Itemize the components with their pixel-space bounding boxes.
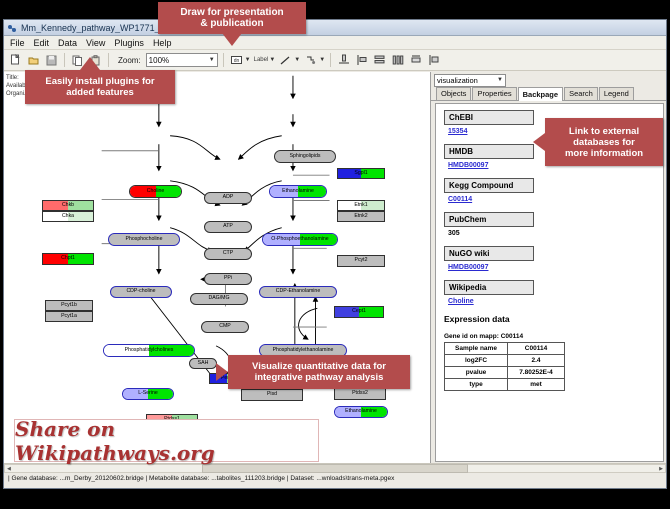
- db-link-wikipedia[interactable]: Choline: [448, 298, 655, 305]
- gene-node-pcyt2[interactable]: Pcyt2: [337, 255, 385, 267]
- metabolite-node-cdp_choline[interactable]: CDP-choline: [110, 286, 172, 298]
- node-label: Etnk2: [354, 214, 367, 219]
- table-cell-value: 7.80252E-4: [508, 367, 565, 379]
- gene-node-cept1[interactable]: Cept1: [334, 306, 384, 318]
- node-label: Phosphatidylcholines: [125, 348, 174, 353]
- zoom-value: 100%: [149, 56, 169, 65]
- node-label: ATP: [223, 224, 233, 229]
- node-label: Phosphocholine: [126, 237, 163, 242]
- visualization-row: visualization ▼: [431, 72, 666, 88]
- node-label: PPi: [224, 276, 232, 281]
- save-icon[interactable]: [44, 53, 59, 68]
- node-label: Pcyt1a: [61, 314, 77, 319]
- toolbar-separator: [330, 53, 331, 67]
- db-value-pubchem: 305: [448, 230, 655, 237]
- tab-properties[interactable]: Properties: [472, 87, 516, 100]
- align-left-icon[interactable]: [354, 53, 369, 68]
- menu-edit[interactable]: Edit: [34, 38, 50, 48]
- distribute-icon[interactable]: [390, 53, 405, 68]
- node-label: Choline: [147, 189, 165, 194]
- node-label: Pcyt2: [355, 258, 368, 263]
- new-file-icon[interactable]: [8, 53, 23, 68]
- gene-node-pisd[interactable]: Pisd: [241, 389, 303, 401]
- scroll-left-icon[interactable]: ◀: [5, 466, 13, 472]
- chevron-down-icon[interactable]: ▼: [245, 57, 251, 63]
- menu-help[interactable]: Help: [153, 38, 172, 48]
- gene-node-sgpl1[interactable]: Sgpl1: [337, 168, 385, 179]
- datanode-icon[interactable]: dn: [229, 53, 244, 68]
- metabolite-node-ctp[interactable]: CTP: [204, 248, 252, 260]
- gene-node-chpt1[interactable]: Chpt1: [42, 253, 94, 265]
- metabolite-node-l_serine_left[interactable]: L-Serine: [122, 388, 174, 400]
- callout-draw-presentation: Draw for presentation & publication: [158, 2, 306, 34]
- node-label: Ethanolamine: [345, 409, 377, 414]
- horizontal-scrollbar[interactable]: ◀ ▶: [4, 464, 666, 473]
- node-label: CMP: [219, 324, 231, 329]
- menu-plugins[interactable]: Plugins: [114, 38, 144, 48]
- toolbar-separator: [108, 53, 109, 67]
- node-label: O-Phosphoethanolamine: [271, 237, 328, 242]
- node-label: CTP: [223, 251, 233, 256]
- gene-node-chkb[interactable]: Chkb: [42, 200, 94, 211]
- menu-file[interactable]: File: [10, 38, 25, 48]
- node-label: Pisd: [267, 392, 277, 397]
- side-tabs: Objects Properties Backpage Search Legen…: [431, 88, 666, 101]
- menu-view[interactable]: View: [86, 38, 105, 48]
- node-label: DAG/MG: [208, 296, 229, 301]
- chevron-down-icon: ▼: [497, 77, 503, 83]
- order-icon[interactable]: [426, 53, 441, 68]
- scroll-right-icon[interactable]: ▶: [657, 466, 665, 472]
- callout-arrow-right-visualize: [216, 363, 228, 381]
- tab-objects[interactable]: Objects: [436, 87, 471, 100]
- chevron-down-icon[interactable]: ▼: [319, 57, 325, 63]
- metabolite-node-phosphatidylcholines[interactable]: Phosphatidylcholines: [103, 344, 195, 357]
- db-header-nugo-wiki: NuGO wiki: [444, 246, 534, 261]
- node-label: Ptdss2: [352, 391, 368, 396]
- metabolite-node-o_phosphoethanolamine[interactable]: O-Phosphoethanolamine: [262, 233, 338, 246]
- pathway-canvas[interactable]: Title: Availab... Organi...: [4, 72, 431, 464]
- status-text: | Gene database: ...m_Derby_20120602.bri…: [4, 473, 666, 482]
- menu-data[interactable]: Data: [58, 38, 77, 48]
- node-label: L-Serine: [138, 391, 158, 396]
- gene-node-ptdss2[interactable]: Ptdss2: [334, 388, 386, 400]
- toolbar: Zoom: 100% ▼ dn ▼ Label ▼ ▼: [4, 50, 666, 71]
- chevron-down-icon[interactable]: ▼: [294, 57, 300, 63]
- label-tool[interactable]: Label ▼: [254, 57, 276, 63]
- node-label: Phosphatidylethanolamine: [273, 348, 334, 353]
- db-header-chebi: ChEBI: [444, 110, 534, 125]
- gene-node-pcyt1b[interactable]: Pcyt1b: [45, 300, 93, 311]
- app-icon: [7, 23, 17, 33]
- label-icon: Label: [254, 57, 269, 63]
- db-header-pubchem: PubChem: [444, 212, 534, 227]
- node-label: Cept1: [352, 309, 366, 314]
- expression-data-table: Sample nameC00114log2FC2.4pvalue7.80252E…: [444, 342, 565, 391]
- table-cell-value: 2.4: [508, 355, 565, 367]
- gene-id-line: Gene id on mapp: C00114: [444, 333, 655, 340]
- anchor-icon[interactable]: [303, 53, 318, 68]
- callout-share-wikipathways: Share on Wikipathways.org: [14, 419, 319, 462]
- metabolite-node-cdp_ethanolamine[interactable]: CDP-Ethanolamine: [259, 286, 337, 298]
- tab-search[interactable]: Search: [564, 87, 598, 100]
- gene-node-etnk1[interactable]: Etnk1: [337, 200, 385, 211]
- table-cell-key: Sample name: [445, 343, 508, 355]
- db-header-hmdb: HMDB: [444, 144, 534, 159]
- node-label: CDP-Ethanolamine: [276, 289, 320, 294]
- node-label: Sphingolipids: [290, 154, 321, 159]
- metabolite-node-atp[interactable]: ATP: [204, 221, 252, 233]
- node-label: Pcyt1b: [61, 303, 77, 308]
- toolbar-separator: [223, 53, 224, 67]
- stack-icon[interactable]: [372, 53, 387, 68]
- gene-node-etnk2[interactable]: Etnk2: [337, 211, 385, 222]
- callout-visualize-data: Visualize quantitative data for integrat…: [228, 355, 410, 389]
- callout-install-plugins: Easily install plugins for added feature…: [25, 70, 175, 104]
- table-row: log2FC2.4: [445, 355, 565, 367]
- visualization-combobox[interactable]: visualization ▼: [434, 74, 506, 87]
- group-icon[interactable]: [408, 53, 423, 68]
- table-cell-key: log2FC: [445, 355, 508, 367]
- node-label: Chka: [62, 214, 74, 219]
- metabolite-node-sphingolipids[interactable]: Sphingolipids: [274, 150, 336, 163]
- scroll-thumb[interactable]: [202, 464, 468, 473]
- node-label: Chpt1: [61, 256, 75, 261]
- db-header-wikipedia: Wikipedia: [444, 280, 534, 295]
- tab-legend[interactable]: Legend: [599, 87, 634, 100]
- datanode-tool[interactable]: dn ▼: [229, 53, 251, 68]
- table-row: typemet: [445, 379, 565, 391]
- gene-node-pcyt1a[interactable]: Pcyt1a: [45, 311, 93, 322]
- svg-text:dn: dn: [233, 58, 239, 64]
- metabolite-node-adp[interactable]: ADP: [204, 192, 252, 204]
- metabolite-node-sah[interactable]: SAH: [189, 358, 217, 369]
- callout-arrow-up-plugins: [80, 57, 100, 70]
- gene-node-chka[interactable]: Chka: [42, 211, 94, 222]
- node-label: CDP-choline: [126, 289, 155, 294]
- line-icon[interactable]: [278, 53, 293, 68]
- callout-arrow-left-links: [533, 133, 545, 151]
- zoom-combobox[interactable]: 100% ▼: [146, 53, 218, 67]
- node-label: ADP: [223, 195, 234, 200]
- screenshot-root: Mm_Kennedy_pathway_WP1771_45176.gpml Fil…: [0, 0, 670, 509]
- visualization-value: visualization: [437, 76, 478, 85]
- node-label: SAH: [198, 361, 209, 366]
- align-bottom-icon[interactable]: [336, 53, 351, 68]
- metabolite-node-choline_top[interactable]: Choline: [129, 185, 182, 198]
- chevron-down-icon[interactable]: ▼: [269, 57, 275, 63]
- share-text: Share on Wikipathways.org: [15, 417, 318, 465]
- callout-external-links: Link to external databases for more info…: [545, 118, 663, 166]
- db-link-nugo-wiki[interactable]: HMDB00097: [448, 264, 655, 271]
- table-row: Sample nameC00114: [445, 343, 565, 355]
- table-cell-value: met: [508, 379, 565, 391]
- table-cell-key: type: [445, 379, 508, 391]
- anchor-tool[interactable]: ▼: [303, 53, 325, 68]
- open-folder-icon[interactable]: [26, 53, 41, 68]
- table-cell-value: C00114: [508, 343, 565, 355]
- db-link-kegg-compound[interactable]: C00114: [448, 196, 655, 203]
- node-label: Chkb: [62, 203, 74, 208]
- zoom-label: Zoom:: [118, 56, 141, 65]
- window-titlebar: Mm_Kennedy_pathway_WP1771_45176.gpml: [4, 20, 666, 36]
- metabolite-node-ethanolamine_bottom[interactable]: Ethanolamine: [334, 406, 388, 418]
- line-tool[interactable]: ▼: [278, 53, 300, 68]
- node-label: Sgpl1: [354, 171, 367, 176]
- metabolite-node-ppi[interactable]: PPi: [204, 273, 252, 285]
- expression-data-heading: Expression data: [444, 314, 655, 324]
- metabolite-node-ethanolamine[interactable]: Ethanolamine: [269, 185, 327, 198]
- toolbar-separator: [64, 53, 65, 67]
- metabolite-node-phosphocholine[interactable]: Phosphocholine: [108, 233, 180, 246]
- callout-arrow-down-top: [222, 33, 242, 46]
- metabolite-node-dag_mg[interactable]: DAG/MG: [190, 293, 248, 305]
- table-cell-key: pvalue: [445, 367, 508, 379]
- table-row: pvalue7.80252E-4: [445, 367, 565, 379]
- statusbar: ◀ ▶ | Gene database: ...m_Derby_20120602…: [4, 463, 666, 488]
- node-label: Ethanolamine: [282, 189, 314, 194]
- tab-backpage[interactable]: Backpage: [518, 87, 563, 101]
- chevron-down-icon: ▼: [209, 57, 215, 63]
- menubar: File Edit Data View Plugins Help: [4, 36, 666, 50]
- metabolite-node-cmp[interactable]: CMP: [201, 321, 249, 333]
- db-header-kegg-compound: Kegg Compound: [444, 178, 534, 193]
- canvas-surface[interactable]: Title: Availab... Organi...: [4, 72, 430, 464]
- node-label: Etnk1: [354, 203, 367, 208]
